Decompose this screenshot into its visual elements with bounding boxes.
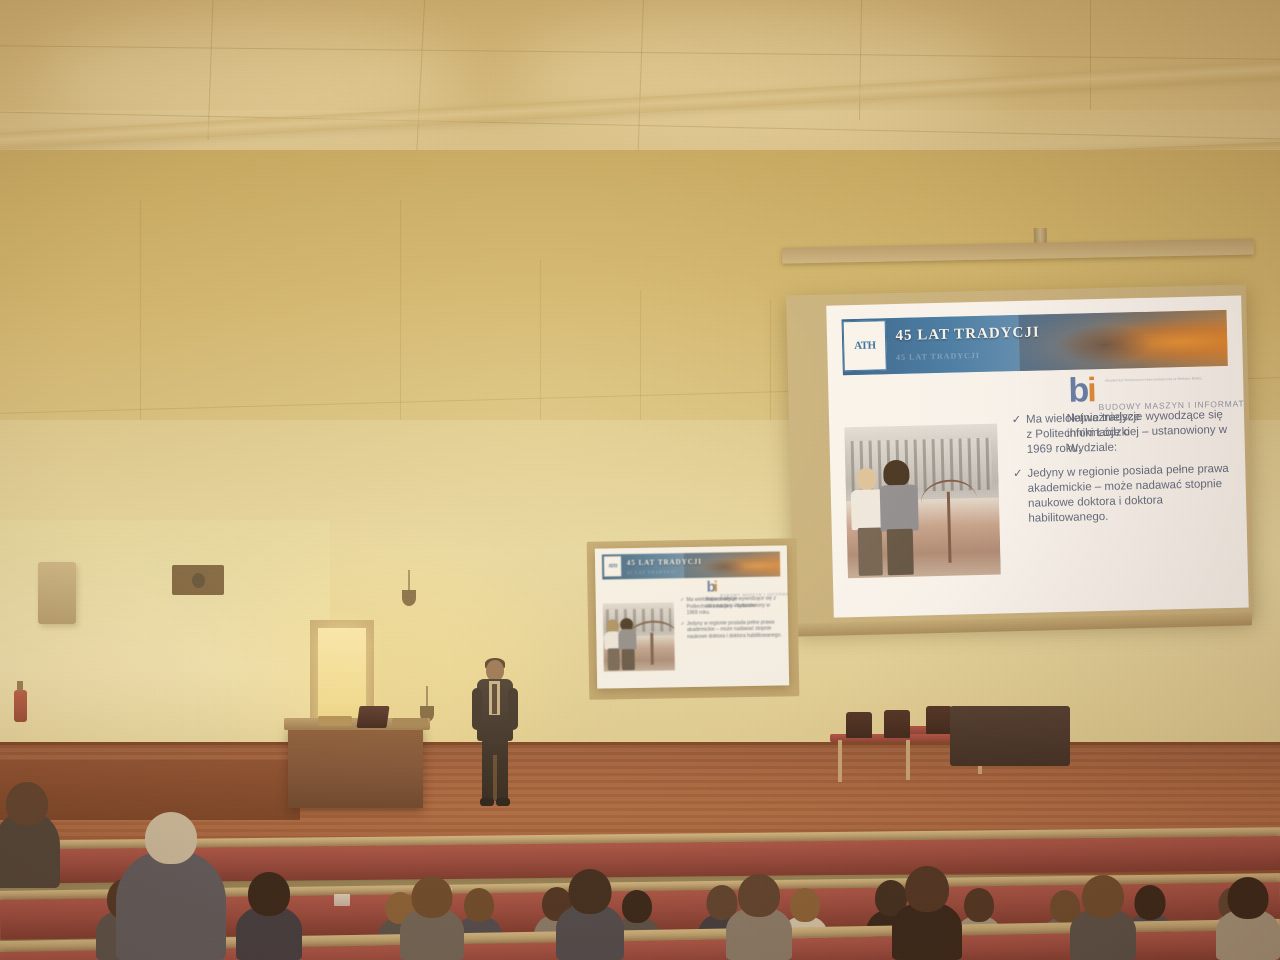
faculty-logo-mark: bi: [706, 580, 716, 595]
audience-member: [116, 808, 226, 960]
audience-member: [236, 874, 302, 960]
slide-photo: [844, 423, 1002, 595]
slide-main: ATH 45 LAT TRADYCJI 45 LAT TRADYCJI bi A…: [826, 296, 1248, 618]
chair: [846, 712, 872, 738]
slide-text-block: Najważniejsze informacje o Wydziale: ✓ M…: [1012, 408, 1236, 594]
slide-bullet-text: Ma wieloletnie tradycje wywodzące się z …: [1026, 409, 1227, 456]
slide-bullet-list: ✓ Ma wieloletnie tradycje wywodzące się …: [680, 596, 782, 641]
ceiling-panel-line: [1090, 0, 1091, 110]
student-legs: [622, 649, 635, 670]
check-icon: ✓: [1013, 467, 1023, 482]
faculty-logo-faint-line: Akademia Techniczno-Humanistyczna w Biel…: [1105, 376, 1202, 383]
ath-logo-text: ATH: [854, 339, 876, 352]
table-leg: [906, 740, 910, 780]
audience-head: [248, 872, 290, 916]
student-right: [876, 462, 925, 594]
check-icon: ✓: [1012, 413, 1022, 428]
slide-photo: [602, 602, 674, 679]
audience-head: [622, 890, 652, 923]
main-screen-surface: ATH 45 LAT TRADYCJI 45 LAT TRADYCJI bi A…: [826, 296, 1248, 618]
students-cutout: [604, 619, 642, 679]
slide-secondary: ATH 45 LAT TRADYCJI 45 LAT TRADYCJI bi B…: [595, 545, 789, 688]
faculty-logo: bi Akademia Techniczno-Humanistyczna w B…: [1054, 372, 1229, 414]
chair: [884, 710, 910, 738]
audience-head: [464, 888, 494, 922]
wall-panel-line: [400, 200, 401, 450]
audience-member: [556, 870, 624, 960]
wall-panel-line: [140, 200, 141, 430]
presenter-arm-left: [472, 688, 482, 730]
tree: [650, 633, 654, 665]
presenter: [472, 660, 518, 810]
student-hair: [883, 459, 910, 486]
audience-member: [400, 880, 464, 960]
student-right: [617, 619, 638, 678]
students-cutout: [848, 462, 931, 595]
chair: [926, 706, 952, 734]
equipment-on-lectern: [392, 718, 428, 726]
student-torso: [879, 484, 918, 531]
fire-extinguisher: [14, 690, 27, 722]
laptop[interactable]: [334, 894, 350, 906]
table-leg: [838, 740, 842, 782]
stage-cabinet: [950, 706, 1070, 766]
check-icon: ✓: [681, 621, 685, 628]
audience-head: [145, 812, 197, 864]
audience-member: [1070, 878, 1136, 960]
slide-banner: ATH 45 LAT TRADYCJI 45 LAT TRADYCJI: [602, 552, 781, 580]
slide-banner: ATH 45 LAT TRADYCJI 45 LAT TRADYCJI: [841, 310, 1228, 376]
audience-head: [569, 869, 612, 914]
presenter-tie: [492, 684, 497, 714]
ath-logo: ATH: [843, 321, 887, 371]
banner-title: 45 LAT TRADYCJI: [895, 325, 1040, 346]
pendant-lamp: [402, 590, 416, 606]
slide-bullet: ✓ Jedyny w regionie posiada pełne prawa …: [681, 619, 783, 640]
audience-seating: [0, 790, 1280, 960]
audience-head: [412, 876, 453, 918]
laptop-on-lectern: [356, 706, 389, 728]
student-torso: [618, 629, 636, 650]
papers-on-lectern: [318, 716, 352, 726]
slide-bullet-list: ✓ Ma wieloletnie tradycje wywodzące się …: [1012, 408, 1235, 527]
banner-title: 45 LAT TRADYCJI: [627, 558, 702, 567]
audience-head: [1228, 877, 1269, 919]
slide-bullet: ✓ Ma wieloletnie tradycje wywodzące się …: [680, 596, 782, 617]
ath-logo: ATH: [603, 556, 623, 578]
banner-title-reflection: 45 LAT TRADYCJI: [627, 569, 677, 575]
audience-head: [1135, 885, 1166, 920]
banner-photo-section: [1019, 310, 1229, 371]
wall-mounted-box: [172, 565, 224, 595]
main-projection-screen: ATH 45 LAT TRADYCJI 45 LAT TRADYCJI bi A…: [786, 284, 1254, 630]
slide-bullet: ✓ Ma wieloletnie tradycje wywodzące się …: [1012, 408, 1233, 458]
slide-bullet-text: Jedyny w regionie posiada pełne prawa ak…: [687, 619, 782, 640]
audience-member: [726, 876, 792, 960]
audience-head: [964, 888, 994, 922]
slide-text-block: Najważniejsze informacje o Wydziale: ✓ M…: [680, 596, 783, 679]
ath-logo-text: ATH: [608, 564, 617, 569]
audience-head: [905, 866, 949, 912]
audience-member: [0, 768, 60, 888]
presenter-head: [486, 660, 504, 681]
faculty-logo-mark: bi: [1068, 373, 1095, 408]
check-icon: ✓: [680, 598, 684, 605]
lecture-hall-photo: ATH 45 LAT TRADYCJI 45 LAT TRADYCJI bi A…: [0, 0, 1280, 960]
audience-head: [738, 874, 780, 917]
student-head: [856, 467, 877, 490]
audience-member: [892, 868, 962, 960]
slide-bullet-text: Jedyny w regionie posiada pełne prawa ak…: [1027, 463, 1229, 525]
audience-member: [1216, 880, 1280, 960]
slide-bullet: ✓ Jedyny w regionie posiada pełne prawa …: [1013, 462, 1234, 527]
ceiling-light-glow: [520, 10, 1000, 140]
secondary-projection-screen: ATH 45 LAT TRADYCJI 45 LAT TRADYCJI bi B…: [595, 545, 789, 688]
slide-bullet-text: Ma wieloletnie tradycje wywodzące się z …: [686, 596, 776, 617]
student-legs: [886, 528, 913, 575]
audience-head: [1082, 875, 1124, 918]
presenter-arm-right: [508, 688, 518, 730]
wall-speaker: [38, 562, 76, 624]
audience-head: [790, 888, 820, 922]
audience-shoulders: [116, 850, 226, 960]
audience-head: [6, 782, 48, 826]
